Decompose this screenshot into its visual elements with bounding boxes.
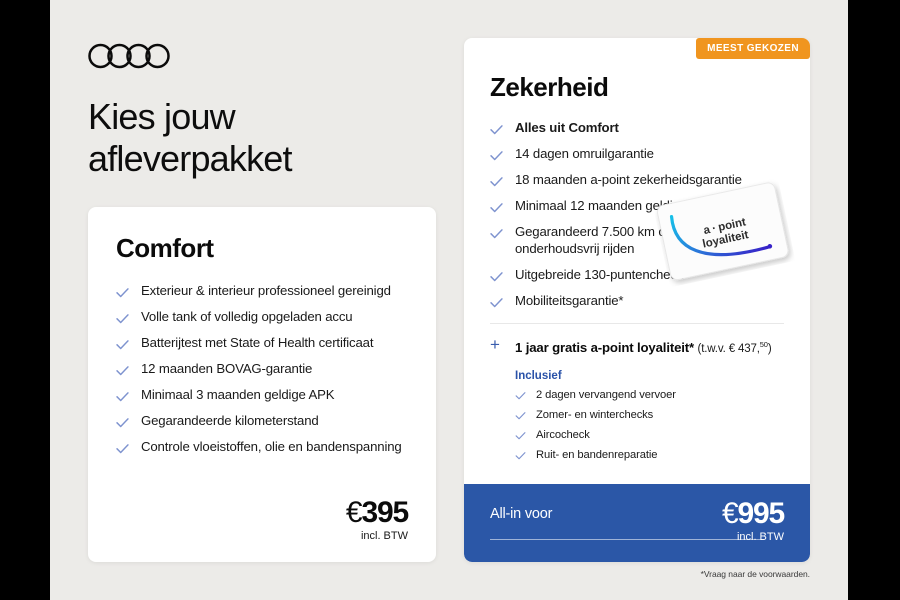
feature-label: Volle tank of volledig opgeladen accu bbox=[141, 309, 352, 324]
inclusief-label-item: Aircocheck bbox=[536, 429, 590, 441]
zekerheid-card-title: Zekerheid bbox=[490, 72, 784, 103]
feature-label: Alles uit Comfort bbox=[515, 120, 619, 135]
zekerheid-price-amount: 995 bbox=[738, 497, 784, 530]
loyalty-offer-value: (t.w.v. € 437,50) bbox=[698, 343, 772, 355]
inclusief-list: 2 dagen vervangend vervoerZomer- en wint… bbox=[515, 388, 784, 462]
check-icon bbox=[490, 122, 503, 132]
list-item: Gegarandeerd 7.500 km of 6 maanden onder… bbox=[490, 223, 784, 257]
feature-label: Gegarandeerde kilometerstand bbox=[141, 413, 319, 428]
plus-icon: + bbox=[490, 336, 500, 353]
comfort-card-title: Comfort bbox=[116, 233, 408, 264]
inclusief-label-item: Ruit- en bandenreparatie bbox=[536, 449, 657, 461]
screenshot-stage: Kies jouw afleverpakket Comfort Exterieu… bbox=[0, 0, 900, 600]
check-icon bbox=[490, 174, 503, 184]
page-content: Kies jouw afleverpakket Comfort Exterieu… bbox=[50, 0, 848, 600]
page-title-line-1: Kies jouw bbox=[88, 96, 235, 137]
zekerheid-price: €995 bbox=[722, 498, 784, 530]
list-item: Minimaal 12 maanden geldige APK bbox=[490, 197, 784, 214]
check-icon bbox=[490, 200, 503, 210]
feature-label: Gegarandeerd 7.500 km of 6 maanden onder… bbox=[515, 224, 737, 256]
check-icon bbox=[116, 415, 129, 425]
inclusief-label-item: 2 dagen vervangend vervoer bbox=[536, 389, 676, 401]
check-icon bbox=[515, 450, 526, 458]
zekerheid-price-footer: All-in voor €995 incl. BTW bbox=[464, 484, 810, 562]
list-item: Alles uit Comfort bbox=[490, 119, 784, 136]
feature-label: Mobiliteitsgarantie* bbox=[515, 293, 623, 308]
package-card-comfort[interactable]: Comfort Exterieur & interieur profession… bbox=[88, 207, 436, 562]
list-item: 12 maanden BOVAG-garantie bbox=[116, 360, 408, 377]
feature-label: 12 maanden BOVAG-garantie bbox=[141, 361, 312, 376]
list-item: Exterieur & interieur professioneel gere… bbox=[116, 282, 408, 299]
feature-label: 14 dagen omruilgarantie bbox=[515, 146, 654, 161]
check-icon bbox=[116, 285, 129, 295]
all-in-label: All-in voor bbox=[490, 506, 552, 522]
zekerheid-price-block: €995 incl. BTW bbox=[722, 498, 784, 543]
footer-rule bbox=[490, 539, 764, 540]
page-title-line-2: afleverpakket bbox=[88, 138, 418, 180]
feature-label: Minimaal 3 maanden geldige APK bbox=[141, 387, 334, 402]
feature-label: Minimaal 12 maanden geldige APK bbox=[515, 198, 716, 213]
check-icon bbox=[116, 389, 129, 399]
list-item: Aircocheck bbox=[515, 428, 784, 442]
zekerheid-price-note: incl. BTW bbox=[722, 531, 784, 543]
check-icon bbox=[116, 441, 129, 451]
list-item: Gegarandeerde kilometerstand bbox=[116, 412, 408, 429]
check-icon bbox=[116, 363, 129, 373]
comfort-currency-symbol: € bbox=[346, 496, 362, 529]
list-item: Minimaal 3 maanden geldige APK bbox=[116, 386, 408, 403]
check-icon bbox=[515, 410, 526, 418]
zekerheid-currency-symbol: € bbox=[722, 497, 738, 530]
check-icon bbox=[515, 390, 526, 398]
check-icon bbox=[490, 269, 503, 279]
footnote-text: *Vraag naar de voorwaarden. bbox=[701, 569, 810, 579]
check-icon bbox=[116, 311, 129, 321]
check-icon bbox=[515, 430, 526, 438]
check-icon bbox=[116, 337, 129, 347]
list-item: 14 dagen omruilgarantie bbox=[490, 145, 784, 162]
comfort-price-block: €395 incl. BTW bbox=[346, 497, 408, 542]
zekerheid-card-body: MEEST GEKOZEN Zekerheid Alles uit Comfor… bbox=[464, 38, 810, 562]
feature-label: Exterieur & interieur professioneel gere… bbox=[141, 283, 391, 298]
audi-four-rings-logo bbox=[88, 42, 174, 70]
list-item: Volle tank of volledig opgeladen accu bbox=[116, 308, 408, 325]
feature-label: Controle vloeistoffen, olie en bandenspa… bbox=[141, 439, 402, 454]
list-item: Batterijtest met State of Health certifi… bbox=[116, 334, 408, 351]
list-item: Mobiliteitsgarantie* bbox=[490, 292, 784, 309]
inclusief-label: Inclusief bbox=[515, 370, 784, 382]
feature-label: Uitgebreide 130-puntencheck bbox=[515, 267, 683, 282]
list-item: Uitgebreide 130-puntencheck bbox=[490, 266, 784, 283]
list-item: Controle vloeistoffen, olie en bandenspa… bbox=[116, 438, 408, 455]
loyalty-offer-text: 1 jaar gratis a-point loyaliteit* bbox=[515, 340, 694, 355]
comfort-price-note: incl. BTW bbox=[346, 530, 408, 542]
feature-label: 18 maanden a-point zekerheidsgarantie bbox=[515, 172, 742, 187]
check-icon bbox=[490, 148, 503, 158]
list-item: Zomer- en winterchecks bbox=[515, 408, 784, 422]
status-badge-most-chosen: MEEST GEKOZEN bbox=[696, 38, 810, 59]
comfort-price: €395 bbox=[346, 497, 408, 529]
comfort-price-amount: 395 bbox=[362, 496, 408, 529]
page-title: Kies jouw afleverpakket bbox=[88, 96, 418, 180]
list-item: Ruit- en bandenreparatie bbox=[515, 448, 784, 462]
section-divider bbox=[490, 323, 784, 324]
check-icon bbox=[490, 295, 503, 305]
inclusief-label-item: Zomer- en winterchecks bbox=[536, 409, 653, 421]
feature-label: Batterijtest met State of Health certifi… bbox=[141, 335, 373, 350]
list-item: 18 maanden a-point zekerheidsgarantie bbox=[490, 171, 784, 188]
comfort-feature-list: Exterieur & interieur professioneel gere… bbox=[116, 282, 408, 455]
list-item: 2 dagen vervangend vervoer bbox=[515, 388, 784, 402]
package-card-zekerheid[interactable]: MEEST GEKOZEN Zekerheid Alles uit Comfor… bbox=[464, 38, 810, 562]
zekerheid-feature-list: Alles uit Comfort14 dagen omruilgarantie… bbox=[490, 119, 784, 309]
check-icon bbox=[490, 226, 503, 236]
loyalty-offer-row: + 1 jaar gratis a-point loyaliteit* (t.w… bbox=[490, 336, 784, 358]
